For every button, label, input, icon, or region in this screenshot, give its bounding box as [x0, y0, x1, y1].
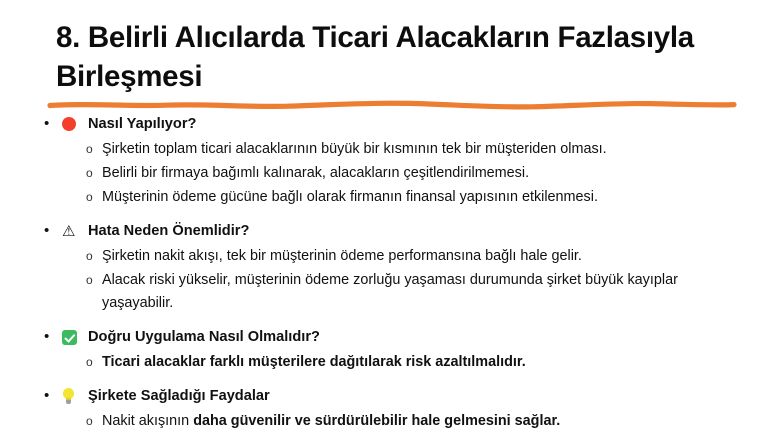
section-heading-row: • Nasıl Yapılıyor?	[44, 112, 750, 136]
title-block: 8. Belirli Alıcılarda Ticari Alacakların…	[56, 18, 746, 96]
list-item: o Nakit akışının daha güvenilir ve sürdü…	[44, 410, 750, 433]
section-heading-label: Doğru Uygulama Nasıl Olmalıdır?	[88, 325, 750, 349]
sub-bullet-marker: o	[86, 186, 102, 209]
sub-bullet-marker: o	[86, 351, 102, 374]
bullet-marker: •	[44, 219, 62, 243]
section-heading-label: Hata Neden Önemlidir?	[88, 219, 750, 243]
list-item-text: Belirli bir firmaya bağımlı kalınarak, a…	[102, 162, 750, 185]
section-heading-label: Nasıl Yapılıyor?	[88, 112, 750, 136]
section-heading-label: Şirkete Sağladığı Faydalar	[88, 384, 750, 408]
list-item-text: Ticari alacaklar farklı müşterilere dağı…	[102, 351, 750, 374]
section-nasil-yapiliyor: • Nasıl Yapılıyor? o Şirketin toplam tic…	[44, 112, 750, 209]
bullet-marker: •	[44, 112, 62, 136]
list-item-text: Nakit akışının daha güvenilir ve sürdürü…	[102, 410, 750, 433]
title-underline-decoration	[48, 98, 736, 111]
content-list: • Nasıl Yapılıyor? o Şirketin toplam tic…	[44, 112, 750, 435]
sub-bullet-marker: o	[86, 162, 102, 185]
bullet-marker: •	[44, 325, 62, 349]
list-item-text: Şirketin toplam ticari alacaklarının büy…	[102, 138, 750, 161]
red-circle-icon	[62, 112, 88, 136]
section-dogru-uygulama: • Doğru Uygulama Nasıl Olmalıdır? o Tica…	[44, 325, 750, 374]
list-item: o Müşterinin ödeme gücüne bağlı olarak f…	[44, 186, 750, 209]
slide: 8. Belirli Alıcılarda Ticari Alacakların…	[0, 0, 768, 431]
sub-bullet-marker: o	[86, 245, 102, 268]
sub-bullet-marker: o	[86, 269, 102, 292]
light-bulb-icon	[62, 384, 88, 408]
list-item-text: Müşterinin ödeme gücüne bağlı olarak fir…	[102, 186, 750, 209]
page-title: 8. Belirli Alıcılarda Ticari Alacakların…	[56, 18, 746, 96]
list-item-text: Alacak riski yükselir, müşterinin ödeme …	[102, 269, 750, 315]
list-item-text-bold: daha güvenilir ve sürdürülebilir hale ge…	[193, 413, 560, 429]
list-item: o Alacak riski yükselir, müşterinin ödem…	[44, 269, 750, 315]
bullet-marker: •	[44, 384, 62, 408]
list-item: o Ticari alacaklar farklı müşterilere da…	[44, 351, 750, 374]
sub-bullet-marker: o	[86, 410, 102, 433]
warning-triangle-icon: ⚠	[62, 219, 88, 243]
list-item: o Belirli bir firmaya bağımlı kalınarak,…	[44, 162, 750, 185]
list-item-text: Şirketin nakit akışı, tek bir müşterinin…	[102, 245, 750, 268]
list-item-text-plain: Nakit akışının	[102, 413, 193, 429]
green-check-icon	[62, 325, 88, 349]
sub-bullet-marker: o	[86, 138, 102, 161]
section-hata-neden-onemlidir: • ⚠ Hata Neden Önemlidir? o Şirketin nak…	[44, 219, 750, 315]
section-heading-row: • Doğru Uygulama Nasıl Olmalıdır?	[44, 325, 750, 349]
section-heading-row: • Şirkete Sağladığı Faydalar	[44, 384, 750, 408]
list-item: o Şirketin toplam ticari alacaklarının b…	[44, 138, 750, 161]
section-sirkete-sagladigi-faydalar: • Şirkete Sağladığı Faydalar o Nakit akı…	[44, 384, 750, 433]
list-item: o Şirketin nakit akışı, tek bir müşterin…	[44, 245, 750, 268]
section-heading-row: • ⚠ Hata Neden Önemlidir?	[44, 219, 750, 243]
